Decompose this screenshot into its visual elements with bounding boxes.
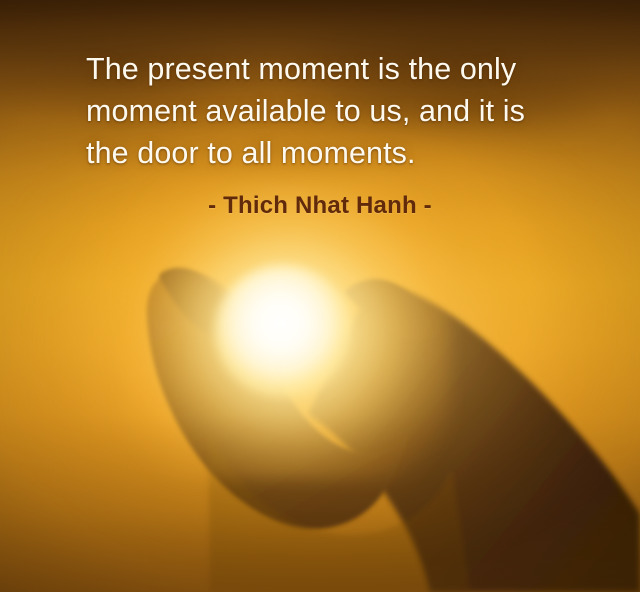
quote-line-1: The present moment is the only [86,48,578,90]
quote-poster: The present moment is the only moment av… [0,0,640,592]
quote-line-2: moment available to us, and it is [86,90,578,132]
quote-line-3: the door to all moments. [86,132,578,174]
quote-attribution: - Thich Nhat Hanh - [0,174,640,220]
sun-core [215,265,351,397]
quote-text: The present moment is the only moment av… [0,0,640,174]
text-overlay: The present moment is the only moment av… [0,0,640,220]
